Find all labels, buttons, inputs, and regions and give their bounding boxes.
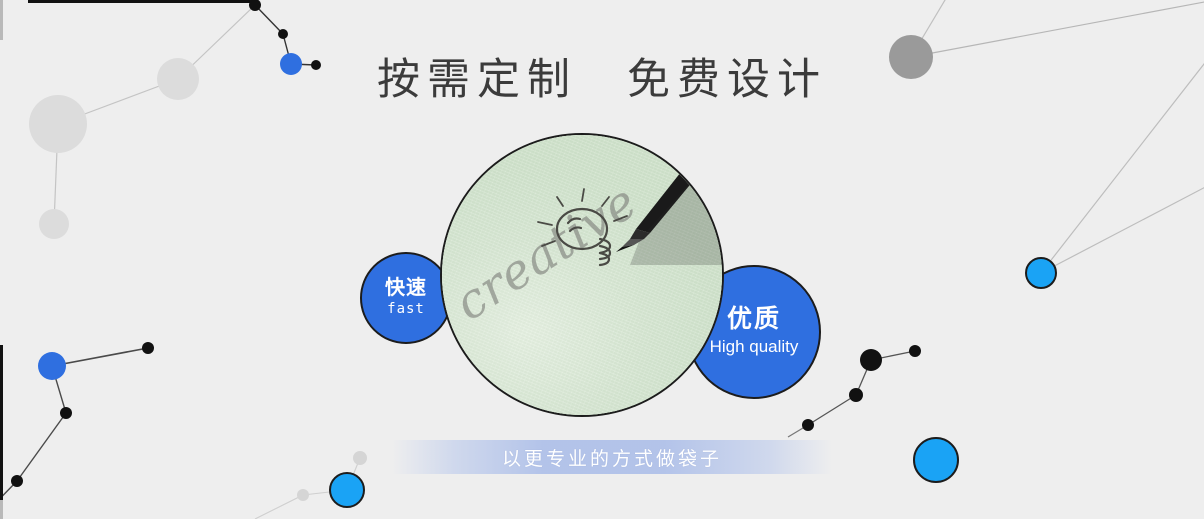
badge-fast[interactable]: 快速 fast xyxy=(360,252,452,344)
node-br-cyan xyxy=(914,438,958,482)
headline-text: 按需定制 免费设计 xyxy=(0,45,1204,107)
left-edge-sliver-bottom xyxy=(0,500,3,519)
badge-quality-cn: 优质 xyxy=(727,305,781,334)
link-r-2 xyxy=(1041,182,1204,273)
node-bl-dot-2 xyxy=(60,407,72,419)
slogan-banner: 以更专业的方式做袋子 xyxy=(392,440,832,474)
top-edge-bar xyxy=(28,0,256,3)
node-br-dot-2 xyxy=(849,388,863,402)
pen-icon xyxy=(610,135,724,265)
node-r-cyan xyxy=(1026,258,1056,288)
node-br-dot-1 xyxy=(909,345,921,357)
node-br-dot-big xyxy=(860,349,882,371)
node-bl-blue xyxy=(38,352,66,380)
node-tl-dot-2 xyxy=(278,29,288,39)
node-bl-dot-1 xyxy=(142,342,154,354)
node-br-dot-3 xyxy=(802,419,814,431)
link-tl-1 xyxy=(255,5,283,34)
node-bc-grey-2 xyxy=(353,451,367,465)
link-bl-3 xyxy=(17,413,66,481)
left-edge-sliver-top xyxy=(0,0,3,40)
promo-banner: 按需定制 免费设计 快速 fast 优质 High quality creati… xyxy=(0,0,1204,519)
badge-fast-cn: 快速 xyxy=(385,277,427,299)
creative-photo-circle: creative xyxy=(440,133,724,417)
badge-quality-en: High quality xyxy=(710,334,799,360)
node-tl-grey-sm xyxy=(39,209,69,239)
node-bc-cyan xyxy=(330,473,364,507)
slogan-text: 以更专业的方式做袋子 xyxy=(502,444,722,471)
node-bl-dot-3 xyxy=(11,475,23,487)
badge-fast-en: fast xyxy=(387,299,425,320)
link-bc-2 xyxy=(255,495,303,519)
link-bl-1 xyxy=(52,348,148,366)
link-br-3 xyxy=(808,395,856,425)
node-bc-grey-1 xyxy=(297,489,309,501)
left-edge-bar xyxy=(0,345,3,500)
